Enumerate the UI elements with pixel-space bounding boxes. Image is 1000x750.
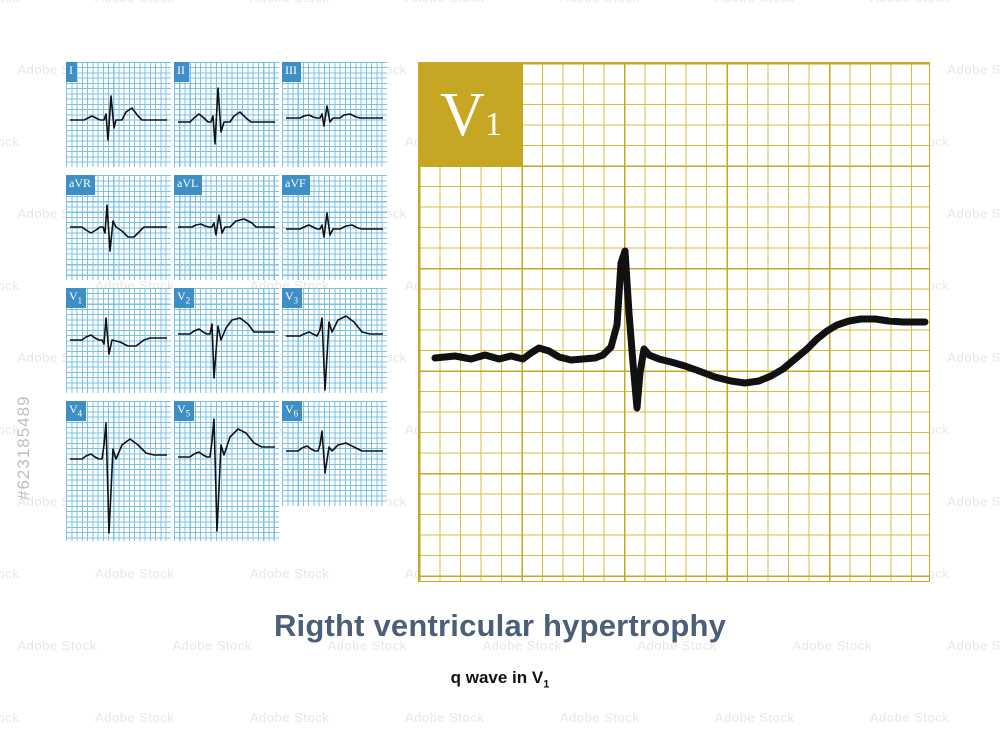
v1-enlarged-panel[interactable]: V1 — [418, 62, 930, 582]
watermark-text: Adobe Stock — [715, 0, 794, 5]
ecg-trace — [70, 423, 167, 533]
lead-label: I — [66, 62, 77, 82]
twelve-lead-grid: I II III aVR aVL — [66, 62, 396, 549]
watermark-text: Adobe Stock — [948, 206, 1000, 221]
watermark-text: Adobe Stock — [870, 710, 949, 725]
lead-label: III — [282, 62, 301, 82]
ecg-trace — [286, 316, 383, 390]
lead-label: aVL — [174, 175, 202, 195]
watermark-text: Adobe Stock — [405, 710, 484, 725]
watermark-id: #623185489 — [14, 395, 34, 500]
lead-iii[interactable]: III — [282, 62, 387, 167]
ecg-trace — [286, 213, 383, 237]
lead-label: II — [174, 62, 189, 82]
lead-label: V2 — [174, 288, 194, 308]
watermark-text: Adobe Stock — [250, 710, 329, 725]
watermark-text: Adobe Stock — [0, 422, 19, 437]
watermark-text: Adobe Stock — [405, 0, 484, 5]
lead-label: aVF — [282, 175, 310, 195]
page-subtitle: q wave in V1 — [0, 668, 1000, 690]
watermark-text: Adobe Stock — [95, 710, 174, 725]
watermark-text: Adobe Stock — [560, 0, 639, 5]
lead-ii[interactable]: II — [174, 62, 279, 167]
ecg-trace — [178, 318, 275, 378]
watermark-text: Adobe Stock — [250, 0, 329, 5]
watermark-text: Adobe Stock — [250, 566, 329, 581]
watermark-text: Adobe Stock — [0, 710, 19, 725]
watermark-text: Adobe Stock — [95, 0, 174, 5]
watermark-text: Adobe Stock — [948, 494, 1000, 509]
watermark-text: Adobe Stock — [870, 0, 949, 5]
lead-v2[interactable]: V2 — [174, 288, 279, 393]
lead-row: I II III — [66, 62, 396, 175]
ecg-trace — [286, 431, 383, 473]
watermark-text: Adobe Stock — [948, 350, 1000, 365]
watermark-text: Adobe Stock — [948, 62, 1000, 77]
lead-v4[interactable]: V4 — [66, 401, 171, 541]
page-title: Rigtht ventricular hypertrophy — [0, 608, 1000, 644]
lead-avf[interactable]: aVF — [282, 175, 387, 280]
lead-avl[interactable]: aVL — [174, 175, 279, 280]
lead-v6[interactable]: V6 — [282, 401, 387, 506]
lead-row: V4 V5 V6 — [66, 401, 396, 549]
ecg-trace — [178, 419, 275, 531]
lead-label: V4 — [66, 401, 86, 421]
watermark-text: Adobe Stock — [0, 134, 19, 149]
watermark-text: Adobe Stock — [715, 710, 794, 725]
lead-row: V1 V2 V3 — [66, 288, 396, 401]
watermark-text: Adobe Stock — [0, 0, 19, 5]
lead-label: V6 — [282, 401, 302, 421]
ecg-trace — [70, 318, 167, 354]
ecg-trace — [70, 205, 167, 251]
watermark-text: Adobe Stock — [0, 278, 19, 293]
watermark-text: Adobe Stock — [95, 566, 174, 581]
ecg-trace — [70, 96, 167, 140]
watermark-text: Adobe Stock — [0, 566, 19, 581]
lead-label: V5 — [174, 401, 194, 421]
lead-avr[interactable]: aVR — [66, 175, 171, 280]
lead-row: aVR aVL aVF — [66, 175, 396, 288]
ecg-trace — [178, 88, 275, 144]
lead-v3[interactable]: V3 — [282, 288, 387, 393]
lead-label: V3 — [282, 288, 302, 308]
lead-label: V1 — [66, 288, 86, 308]
ecg-trace — [435, 251, 925, 408]
lead-i[interactable]: I — [66, 62, 171, 167]
ecg-trace — [178, 215, 275, 235]
lead-v1[interactable]: V1 — [66, 288, 171, 393]
v1-panel-label: V1 — [419, 63, 523, 167]
lead-label: aVR — [66, 175, 95, 195]
lead-v5[interactable]: V5 — [174, 401, 279, 541]
watermark-text: Adobe Stock — [560, 710, 639, 725]
ecg-trace — [286, 106, 383, 126]
